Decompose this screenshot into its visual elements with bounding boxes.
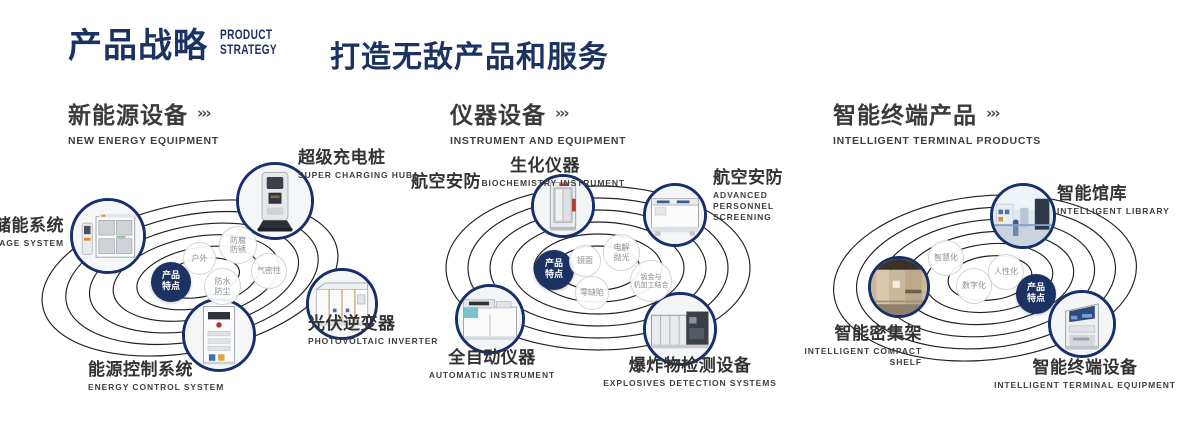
product-circle-energy-storage[interactable]	[70, 198, 146, 274]
product-label-en: ENERGY STORAGE SYSTEM	[0, 238, 64, 249]
feature-bubble-line2: 防锈	[230, 245, 246, 255]
product-label-en: INTELLIGENT LIBRARY	[1057, 206, 1170, 217]
feature-bubble-digital: 数字化	[956, 268, 992, 304]
page-title-en-line1: PRODUCT	[220, 27, 277, 42]
core-bubble-product-features: 产品 特点	[151, 262, 191, 302]
feature-bubble-line1: 防水	[215, 277, 231, 287]
page-subtitle: 打造无敌产品和服务	[330, 32, 609, 76]
feature-bubble-zero-defect: 零缺陷	[575, 276, 609, 310]
section-title-cn: 仪器设备 ›››	[450, 96, 626, 130]
chevrons-right-icon: ›››	[986, 104, 999, 122]
product-label-en: ADVANCED PERSONNEL SCREENING	[713, 190, 805, 223]
product-label-en: AUTOMATIC INSTRUMENT	[410, 370, 574, 381]
product-label-en: INTELLIGENT COMPACT SHELF	[778, 346, 922, 368]
section-title-en: NEW ENERGY EQUIPMENT	[68, 135, 219, 147]
product-label-control-system: 能源控制系统 ENERGY CONTROL SYSTEM	[88, 360, 224, 393]
chevrons-right-icon: ›››	[197, 104, 210, 122]
product-label-cn: 超级充电桩	[298, 148, 413, 168]
product-label-terminal-equipment: 智能终端设备 INTELLIGENT TERMINAL EQUIPMENT	[985, 358, 1185, 391]
energy-storage-cabinet-icon	[73, 201, 143, 271]
product-label-energy-storage: 储能系统 ENERGY STORAGE SYSTEM	[0, 216, 64, 249]
screening-machine-icon	[646, 186, 704, 244]
feature-bubble-line1: 防腐	[230, 236, 246, 246]
product-label-cn: 全自动仪器	[410, 348, 574, 368]
library-hall-photo-icon	[993, 186, 1053, 246]
product-circle-compact-shelf[interactable]	[868, 256, 930, 318]
diagram-group-new-energy: 产品 特点 户外 防腐 防锈 防水 防尘 气密性 储能系统 ENERGY STO…	[0, 150, 400, 400]
product-label-cn: 智能馆库	[1057, 184, 1170, 204]
product-label-biochemistry: 生化仪器 BIOCHEMISTRY INSTRUMENT	[465, 156, 625, 189]
section-title-intelligent-terminal: 智能终端产品 ››› INTELLIGENT TERMINAL PRODUCTS	[833, 96, 1041, 147]
core-bubble-product-features: 产品 特点	[534, 250, 574, 290]
poster-canvas: 产品战略 PRODUCT STRATEGY 打造无敌产品和服务 新能源设备 ››…	[0, 0, 1200, 422]
page-title-en: PRODUCT STRATEGY	[220, 27, 277, 57]
section-title-cn: 智能终端产品 ›››	[833, 96, 1041, 130]
automatic-analyzer-icon	[458, 287, 522, 351]
product-label-en: BIOCHEMISTRY INSTRUMENT	[465, 178, 625, 189]
section-title-en: INTELLIGENT TERMINAL PRODUCTS	[833, 135, 1041, 147]
product-label-en: ENERGY CONTROL SYSTEM	[88, 382, 224, 393]
feature-bubble-line1: 数字化	[962, 281, 986, 291]
section-title-cn: 新能源设备 ›››	[68, 96, 219, 130]
product-label-en: SUPER CHARGING HUB	[298, 170, 413, 181]
feature-bubble-line1: 钣金与	[634, 273, 669, 282]
page-title: 产品战略 PRODUCT STRATEGY	[68, 24, 299, 68]
chevrons-right-icon: ›››	[555, 104, 568, 122]
product-label-en: INTELLIGENT TERMINAL EQUIPMENT	[985, 380, 1185, 391]
core-bubble-line1: 产品	[545, 259, 563, 270]
feature-bubble-line1: 零缺陷	[580, 288, 604, 298]
explosives-detector-icon	[646, 295, 714, 363]
product-label-cn: 智能终端设备	[985, 358, 1185, 378]
product-label-cn: 智能密集架	[778, 324, 922, 344]
product-circle-terminal-kiosk[interactable]	[1048, 290, 1116, 358]
product-label-cn: 储能系统	[0, 216, 64, 236]
product-label-en: EXPLOSIVES DETECTION SYSTEMS	[590, 378, 790, 389]
feature-bubble-line1: 人性化	[994, 267, 1018, 277]
product-circle-explosives-detector[interactable]	[643, 292, 717, 366]
product-label-compact-shelf: 智能密集架 INTELLIGENT COMPACT SHELF	[778, 324, 922, 368]
feature-bubble-line2: 防尘	[215, 287, 231, 297]
diagram-group-instrument: 产品 特点 镜面 电解 抛光 零缺陷 钣金与 机加工结合 航空安防 生	[400, 150, 800, 400]
compact-shelf-photo-icon	[871, 259, 927, 315]
product-circle-screening-machine[interactable]	[643, 183, 707, 247]
product-label-charging-pile: 超级充电桩 SUPER CHARGING HUB	[298, 148, 413, 181]
feature-bubble-sheetmetal-machining: 钣金与 机加工结合	[630, 260, 672, 302]
product-label-intelligent-library: 智能馆库 INTELLIGENT LIBRARY	[1057, 184, 1170, 217]
core-bubble-line1: 产品	[162, 271, 180, 282]
section-title-new-energy: 新能源设备 ››› NEW ENERGY EQUIPMENT	[68, 96, 219, 147]
product-label-cn: 爆炸物检测设备	[590, 356, 790, 376]
product-label-explosives-detection: 爆炸物检测设备 EXPLOSIVES DETECTION SYSTEMS	[590, 356, 790, 389]
page-title-cn: 产品战略	[68, 24, 208, 68]
diagram-group-intelligent-terminal: 智慧化 数字化 人性化 产品 特点 智能馆库 INTELLIGENT LIBRA…	[800, 150, 1200, 400]
product-label-cn: 生化仪器	[465, 156, 625, 176]
core-bubble-line1: 产品	[1027, 283, 1045, 294]
product-circle-automatic-analyzer[interactable]	[455, 284, 525, 354]
feature-bubble-air-tightness: 气密性	[251, 253, 287, 289]
control-cabinet-icon	[185, 301, 253, 369]
feature-bubble-line2: 抛光	[614, 253, 630, 263]
page-title-en-line2: STRATEGY	[220, 42, 277, 57]
feature-bubble-anti-corrosion: 防腐 防锈	[219, 226, 257, 264]
core-bubble-line2: 特点	[545, 270, 563, 281]
product-label-cn: 能源控制系统	[88, 360, 224, 380]
feature-bubble-line2: 机加工结合	[634, 281, 669, 290]
self-service-kiosk-icon	[1051, 293, 1113, 355]
product-label-personnel-screening: 航空安防 ADVANCED PERSONNEL SCREENING	[713, 168, 805, 223]
feature-bubble-line1: 气密性	[257, 266, 281, 276]
feature-bubble-electrolytic-polishing: 电解 抛光	[603, 234, 640, 271]
feature-bubble-waterproof-dustproof: 防水 防尘	[204, 268, 241, 305]
feature-bubble-line1: 户外	[192, 254, 208, 264]
feature-bubble-intelligent: 智慧化	[928, 240, 964, 276]
feature-bubble-line1: 镜面	[577, 256, 593, 266]
section-title-text: 智能终端产品	[833, 96, 977, 130]
feature-bubble-mirror-finish: 镜面	[569, 245, 601, 277]
feature-bubble-outdoor: 户外	[183, 242, 216, 275]
section-title-text: 新能源设备	[68, 96, 188, 130]
core-bubble-line2: 特点	[1027, 294, 1045, 305]
feature-bubble-line1: 电解	[614, 243, 630, 253]
product-label-cn: 航空安防	[713, 168, 805, 188]
feature-bubble-line1: 智慧化	[934, 253, 958, 263]
product-label-automatic-instrument: 全自动仪器 AUTOMATIC INSTRUMENT	[410, 348, 574, 381]
core-bubble-line2: 特点	[162, 282, 180, 293]
section-title-text: 仪器设备	[450, 96, 546, 130]
section-title-instrument: 仪器设备 ››› INSTRUMENT AND EQUIPMENT	[450, 96, 626, 147]
product-circle-intelligent-library[interactable]	[990, 183, 1056, 249]
section-title-en: INSTRUMENT AND EQUIPMENT	[450, 135, 626, 147]
core-bubble-product-features: 产品 特点	[1016, 274, 1056, 314]
